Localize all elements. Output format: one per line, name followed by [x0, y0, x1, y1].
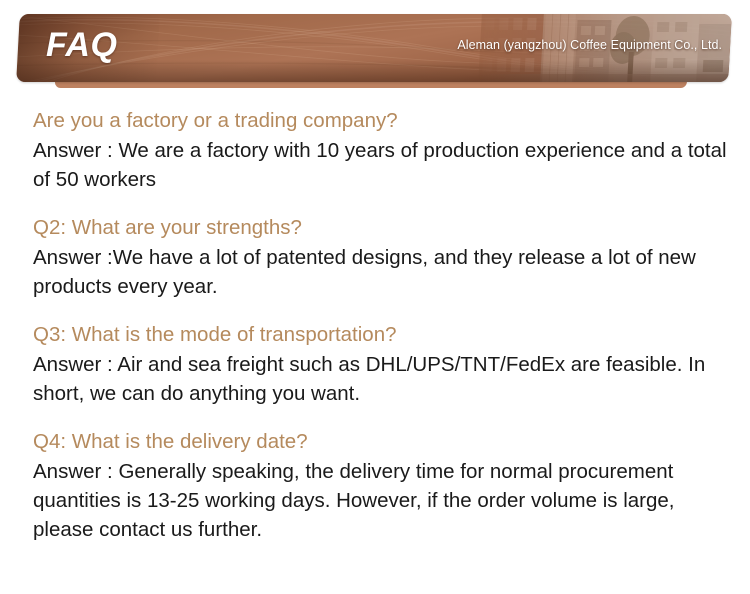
faq-answer: Answer : Generally speaking, the deliver…	[33, 457, 732, 544]
faq-item: Are you a factory or a trading company? …	[33, 106, 732, 194]
faq-item: Q3: What is the mode of transportation? …	[33, 320, 732, 408]
faq-question: Q2: What are your strengths?	[33, 213, 732, 242]
faq-question: Are you a factory or a trading company?	[33, 106, 732, 135]
faq-answer: Answer : We are a factory with 10 years …	[33, 136, 732, 194]
faq-answer: Answer :We have a lot of patented design…	[33, 243, 732, 301]
faq-answer: Answer : Air and sea freight such as DHL…	[33, 350, 732, 408]
faq-item: Q2: What are your strengths? Answer :We …	[33, 213, 732, 301]
faq-item: Q4: What is the delivery date? Answer : …	[33, 427, 732, 544]
faq-content: Are you a factory or a trading company? …	[0, 100, 750, 544]
banner-bottom-shading	[16, 60, 729, 82]
page-title: FAQ	[46, 26, 117, 65]
faq-question: Q4: What is the delivery date?	[33, 427, 732, 456]
faq-header-banner: FAQ Aleman (yangzhou) Coffee Equipment C…	[0, 0, 750, 100]
company-name: Aleman (yangzhou) Coffee Equipment Co., …	[457, 38, 722, 52]
faq-question: Q3: What is the mode of transportation?	[33, 320, 732, 349]
